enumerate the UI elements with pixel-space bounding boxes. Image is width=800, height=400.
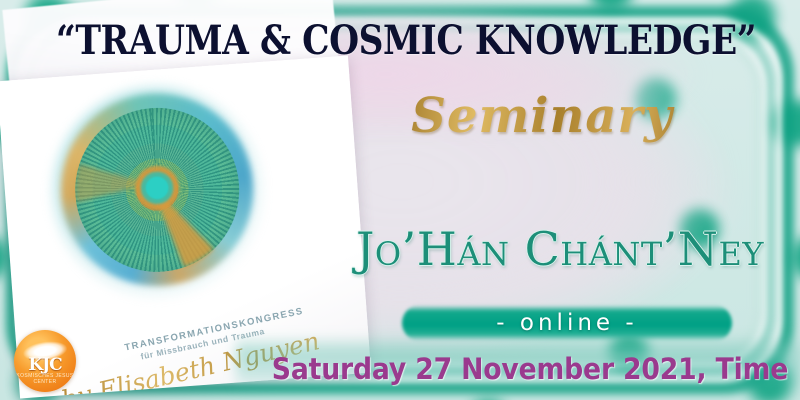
kjc-logo-initials: KJC [14, 355, 76, 375]
page-title: “TRAUMA & COSMIC KNOWLEDGE” [56, 21, 744, 61]
kjc-logo: KJC KOSMISCHES JESUS CENTER [14, 330, 76, 392]
seminar-promo-banner: Abuse & Above TRANSFORMATIONSKONGRESS fü… [0, 0, 800, 400]
presenter-name: Jo’Hán Chánt’Ney [330, 222, 790, 276]
kjc-logo-tagline: KOSMISCHES JESUS CENTER [14, 373, 76, 385]
event-datetime: Saturday 27 November 2021, Time 10 AM [272, 352, 773, 386]
mandala-artwork [44, 78, 271, 305]
seminar-subtitle: Seminary [392, 88, 692, 144]
